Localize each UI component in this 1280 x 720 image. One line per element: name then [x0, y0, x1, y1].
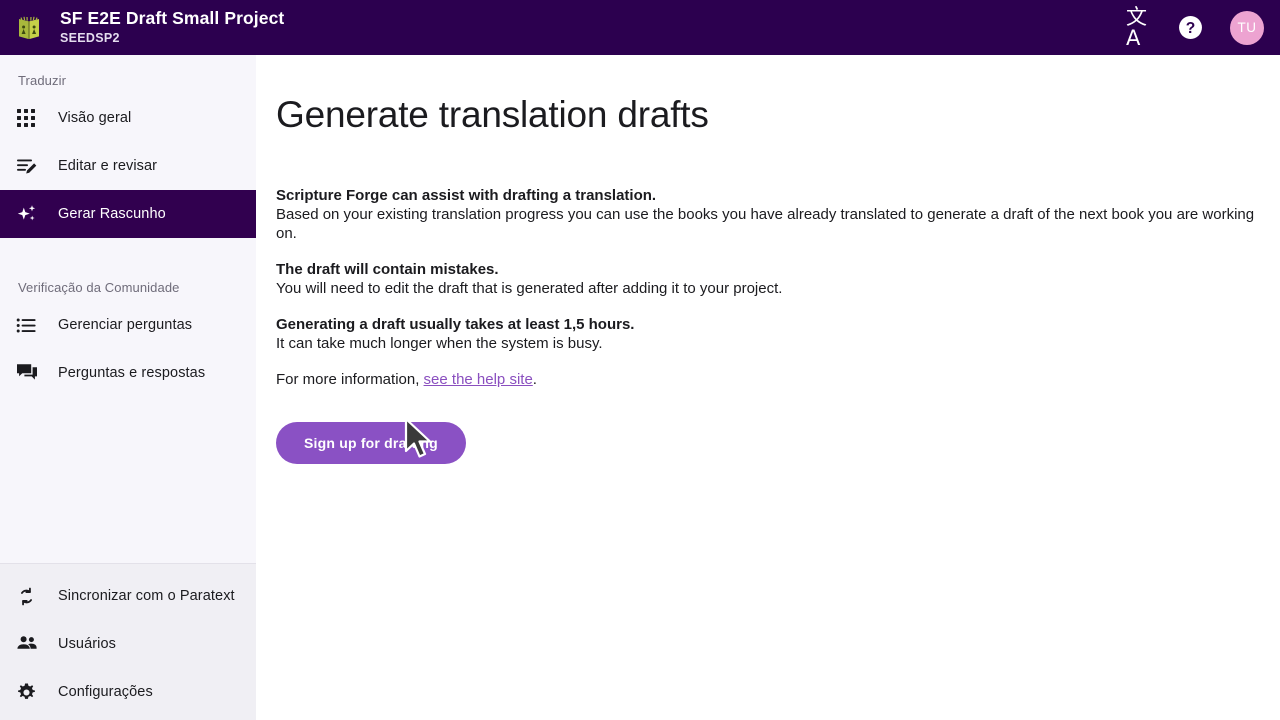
translate-icon[interactable]: 文A [1126, 14, 1154, 42]
sidebar-item-users[interactable]: Usuários [0, 620, 256, 668]
sidebar-item-label: Visão geral [58, 110, 131, 126]
nav-section-label-translate: Traduzir [0, 55, 256, 94]
sidebar-item-label: Gerar Rascunho [58, 206, 166, 222]
open-book-logo-icon [14, 13, 44, 43]
content-block: Scripture Forge can assist with drafting… [276, 186, 1256, 464]
sidebar-item-settings[interactable]: Configurações [0, 668, 256, 716]
paragraph-more-info: For more information, see the help site. [276, 370, 1256, 389]
paragraph-body: It can take much longer when the system … [276, 334, 1256, 353]
paragraph-mistakes: The draft will contain mistakes. You wil… [276, 260, 1256, 298]
sidebar-item-questions-answers[interactable]: Perguntas e respostas [0, 349, 256, 397]
sidebar-item-generate-draft[interactable]: Gerar Rascunho [0, 190, 256, 238]
sidebar-item-label: Sincronizar com o Paratext [58, 588, 235, 604]
page-title: Generate translation drafts [276, 95, 1256, 136]
avatar[interactable]: TU [1230, 11, 1264, 45]
more-info-suffix: . [533, 371, 537, 388]
header-actions: 文A ? TU [1126, 11, 1264, 45]
svg-text:?: ? [1185, 20, 1195, 37]
app-root: SF E2E Draft Small Project SEEDSP2 文A ? … [0, 0, 1280, 720]
paragraph-heading: The draft will contain mistakes. [276, 260, 1256, 279]
sign-up-for-drafting-button[interactable]: Sign up for drafting [276, 422, 466, 464]
cta-row: Sign up for drafting [276, 422, 1256, 464]
sidebar-item-label: Perguntas e respostas [58, 365, 205, 381]
help-icon[interactable]: ? [1176, 14, 1204, 42]
sync-icon [16, 586, 42, 607]
project-title: SF E2E Draft Small Project [60, 9, 284, 28]
project-code: SEEDSP2 [60, 32, 284, 46]
app-header: SF E2E Draft Small Project SEEDSP2 文A ? … [0, 0, 1280, 55]
paragraph-drafting-intro: Scripture Forge can assist with drafting… [276, 186, 1256, 243]
paragraph-heading: Generating a draft usually takes at leas… [276, 315, 1256, 334]
apps-grid-icon [16, 108, 42, 128]
sidebar-item-sync-paratext[interactable]: Sincronizar com o Paratext [0, 572, 256, 620]
project-info: SF E2E Draft Small Project SEEDSP2 [60, 9, 284, 46]
forum-icon [16, 362, 42, 384]
paragraph-body: You will need to edit the draft that is … [276, 279, 1256, 298]
gear-icon [16, 682, 42, 703]
sidebar-item-overview[interactable]: Visão geral [0, 94, 256, 142]
sidebar-item-edit-review[interactable]: Editar e revisar [0, 142, 256, 190]
main-content: Generate translation drafts Scripture Fo… [256, 55, 1280, 720]
list-icon [16, 315, 42, 336]
nav-section-label-community-checking: Verificação da Comunidade [0, 238, 256, 301]
sidebar: Traduzir Visão geral [0, 55, 256, 720]
edit-note-icon [16, 155, 42, 177]
sidebar-item-label: Usuários [58, 636, 116, 652]
translate-icon-glyph: 文A [1126, 7, 1154, 49]
sparkles-icon [16, 203, 42, 225]
paragraph-body: Based on your existing translation progr… [276, 205, 1256, 243]
sidebar-footer-nav: Sincronizar com o Paratext Usuários [0, 563, 256, 720]
sidebar-item-label: Editar e revisar [58, 158, 157, 174]
help-site-link[interactable]: see the help site [424, 371, 533, 388]
sidebar-item-manage-questions[interactable]: Gerenciar perguntas [0, 301, 256, 349]
body-row: Traduzir Visão geral [0, 55, 1280, 720]
paragraph-duration: Generating a draft usually takes at leas… [276, 315, 1256, 353]
more-info-line: For more information, see the help site. [276, 370, 1256, 389]
sidebar-item-label: Gerenciar perguntas [58, 317, 192, 333]
sidebar-item-label: Configurações [58, 684, 153, 700]
more-info-prefix: For more information, [276, 371, 424, 388]
sidebar-main-nav: Traduzir Visão geral [0, 55, 256, 563]
people-icon [16, 633, 42, 655]
paragraph-heading: Scripture Forge can assist with drafting… [276, 186, 1256, 205]
